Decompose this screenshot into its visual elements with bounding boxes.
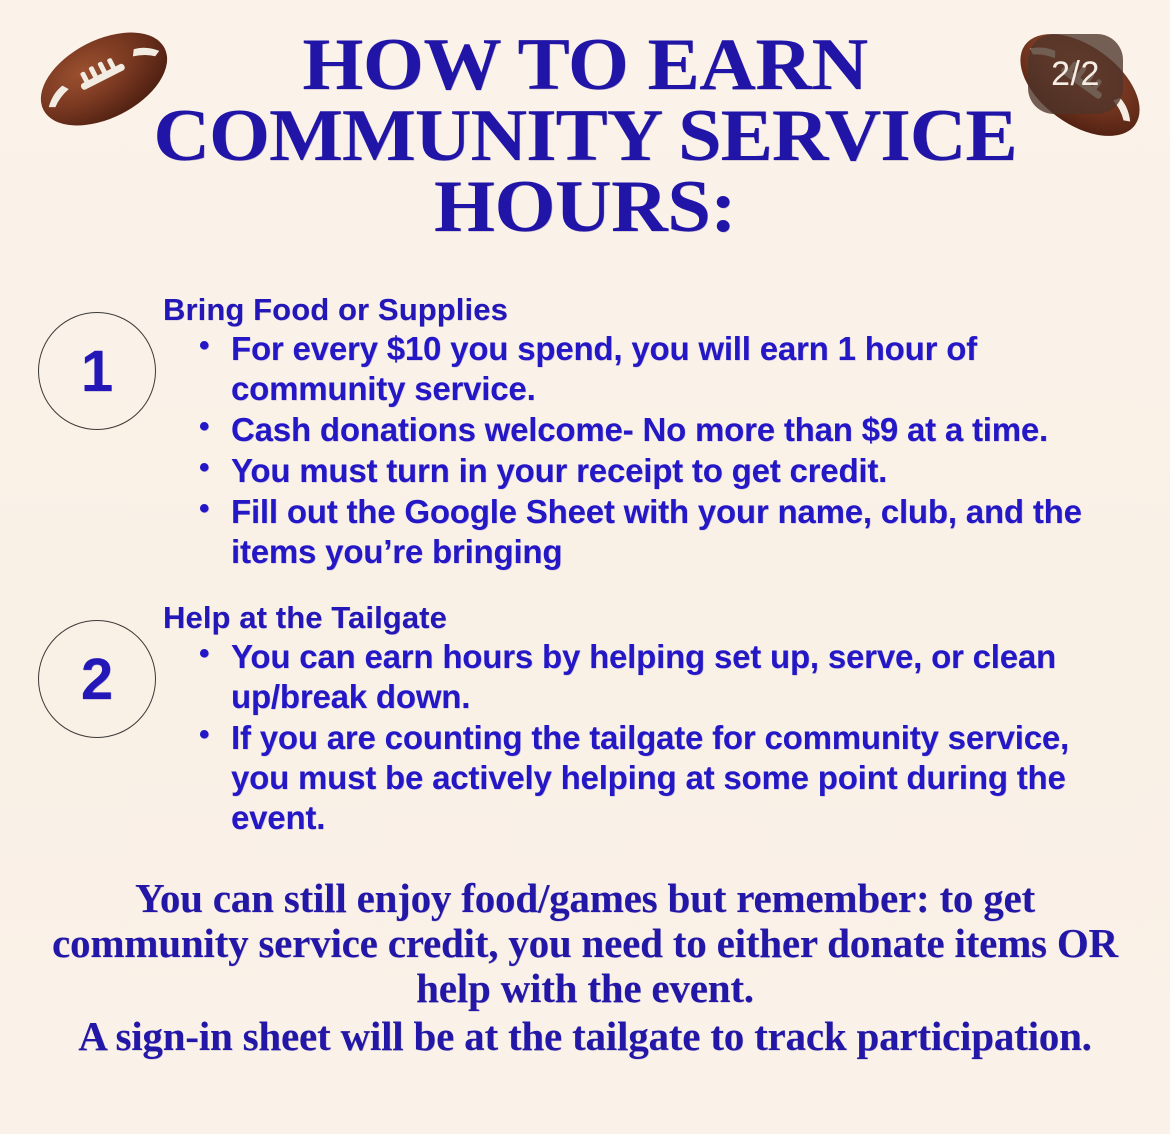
poster-header: HOW TO EARN COMMUNITY SERVICE HOURS:: [0, 0, 1170, 290]
steps-list: 1 Bring Food or Supplies For every $10 y…: [0, 294, 1170, 838]
list-item: You must turn in your receipt to get cre…: [191, 451, 1116, 491]
step-title: Bring Food or Supplies: [163, 294, 1170, 327]
step-item: 1 Bring Food or Supplies For every $10 y…: [0, 294, 1170, 572]
step-number-circle: 1: [38, 312, 156, 430]
closing-paragraph-2: A sign-in sheet will be at the tailgate …: [44, 1014, 1126, 1059]
poster: HOW TO EARN COMMUNITY SERVICE HOURS:: [0, 0, 1170, 1134]
step-number-circle: 2: [38, 620, 156, 738]
list-item: Fill out the Google Sheet with your name…: [191, 492, 1116, 572]
closing-paragraph-1: You can still enjoy food/games but remem…: [44, 876, 1126, 1011]
list-item: For every $10 you spend, you will earn 1…: [191, 329, 1116, 409]
list-item: You can earn hours by helping set up, se…: [191, 637, 1116, 717]
title-line-1: HOW TO EARN: [124, 30, 1046, 101]
closing-note: You can still enjoy food/games but remem…: [0, 876, 1170, 1059]
title-line-3: HOURS:: [124, 172, 1046, 243]
list-item: Cash donations welcome- No more than $9 …: [191, 410, 1116, 450]
page-title: HOW TO EARN COMMUNITY SERVICE HOURS:: [0, 30, 1170, 243]
list-item: If you are counting the tailgate for com…: [191, 718, 1116, 838]
page-indicator-badge: 2/2: [1028, 34, 1123, 114]
step-bullets: For every $10 you spend, you will earn 1…: [163, 329, 1170, 573]
title-line-2: COMMUNITY SERVICE: [124, 101, 1046, 172]
step-bullets: You can earn hours by helping set up, se…: [163, 637, 1170, 838]
step-title: Help at the Tailgate: [163, 602, 1170, 635]
step-item: 2 Help at the Tailgate You can earn hour…: [0, 602, 1170, 838]
